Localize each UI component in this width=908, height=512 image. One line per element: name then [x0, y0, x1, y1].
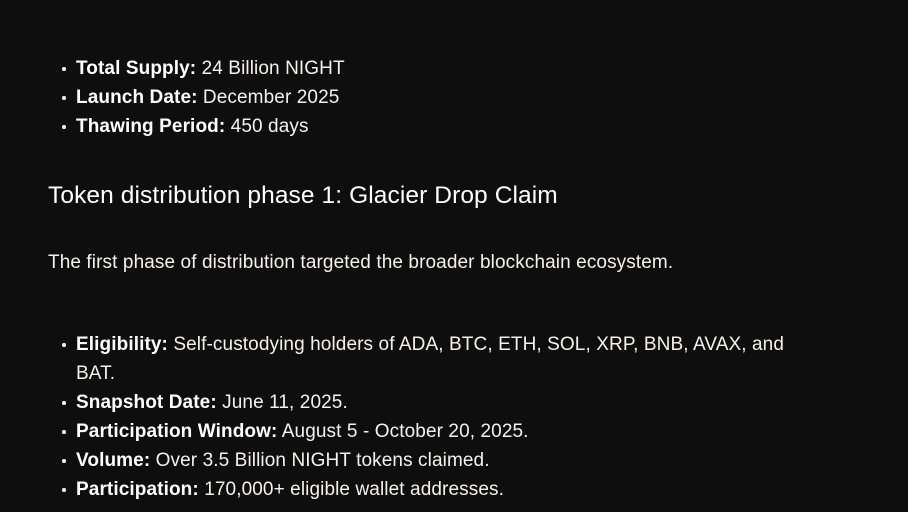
list-item-label: Thawing Period:: [76, 116, 225, 137]
list-item: Participation Window: August 5 - October…: [48, 417, 788, 446]
list-item-value: 450 days: [225, 116, 308, 137]
list-item-value: 24 Billion NIGHT: [196, 58, 344, 79]
list-item-label: Launch Date:: [76, 87, 198, 108]
list-item-label: Volume:: [76, 450, 150, 471]
list-item-label: Eligibility:: [76, 334, 168, 355]
list-item: Snapshot Date: June 11, 2025.: [48, 388, 788, 417]
list-item: Participation: 170,000+ eligible wallet …: [48, 475, 788, 504]
list-item: Volume: Over 3.5 Billion NIGHT tokens cl…: [48, 446, 788, 475]
list-item: Total Supply: 24 Billion NIGHT: [48, 54, 808, 83]
section-paragraph: The first phase of distribution targeted…: [48, 248, 688, 278]
section-heading: Token distribution phase 1: Glacier Drop…: [48, 180, 558, 212]
list-item-value: August 5 - October 20, 2025.: [277, 421, 528, 442]
list-item-label: Participation Window:: [76, 421, 277, 442]
document-page: Total Supply: 24 Billion NIGHT Launch Da…: [0, 0, 908, 512]
list-item-label: Total Supply:: [76, 58, 196, 79]
list-item-value: Over 3.5 Billion NIGHT tokens claimed.: [150, 450, 489, 471]
list-item-value: 170,000+ eligible wallet addresses.: [199, 479, 504, 500]
token-summary-list: Total Supply: 24 Billion NIGHT Launch Da…: [48, 54, 808, 141]
list-item: Eligibility: Self-custodying holders of …: [48, 330, 788, 388]
list-item-value: June 11, 2025.: [217, 392, 348, 413]
list-item-label: Snapshot Date:: [76, 392, 217, 413]
list-item-label: Participation:: [76, 479, 199, 500]
glacier-drop-detail-list: Eligibility: Self-custodying holders of …: [48, 330, 788, 504]
list-item-value: December 2025: [198, 87, 340, 108]
list-item-value: Self-custodying holders of ADA, BTC, ETH…: [76, 334, 784, 384]
list-item: Thawing Period: 450 days: [48, 112, 808, 141]
list-item: Launch Date: December 2025: [48, 83, 808, 112]
